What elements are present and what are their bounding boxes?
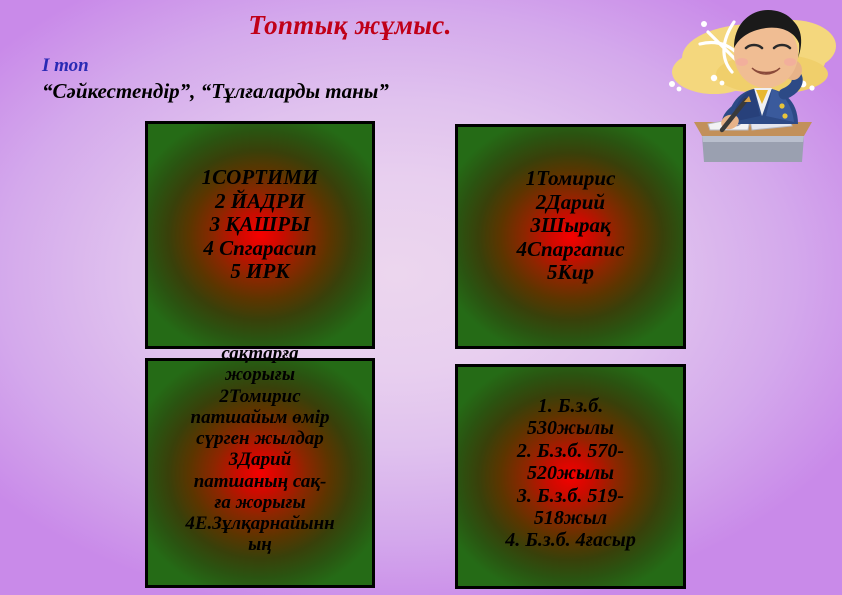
uniform-body-shape [728,88,798,124]
open-book-shape [708,115,792,131]
answer-box-events-text: сақтарға жорығы 2Томирис патшайым өмір с… [151,343,369,556]
group-label: I топ [42,55,89,77]
page-title: Топтық жұмыс. [0,10,700,41]
answer-box-dates-text: 1. Б.з.б. 530жылы 2. Б.з.б. 570- 520жылы… [461,395,680,552]
answer-box-events[interactable]: сақтарға жорығы 2Томирис патшайым өмір с… [145,358,375,588]
head-shape [734,10,801,88]
answer-box-names[interactable]: 1Томирис 2Дарий 3Шырақ 4Спаргапис 5Кир [455,124,686,349]
answer-box-terms-text: 1СОРТИМИ 2 ЙАДРИ 3 ҚАШРЫ 4 Спгарасип 5 И… [151,166,369,284]
arms-shape [719,60,802,132]
slide-canvas: Топтық жұмыс. I топ “Сәйкестендір”, “Тұл… [0,0,842,595]
pencil-shape [722,96,751,130]
desk-shape [694,122,812,162]
task-instruction: “Сәйкестендір”, “Тұлғаларды таны” [42,79,389,104]
answer-box-names-text: 1Томирис 2Дарий 3Шырақ 4Спаргапис 5Кир [461,167,680,285]
white-arc-decor [700,22,742,72]
answer-box-terms[interactable]: 1СОРТИМИ 2 ЙАДРИ 3 ҚАШРЫ 4 Спгарасип 5 И… [145,121,375,349]
answer-box-dates[interactable]: 1. Б.з.б. 530жылы 2. Б.з.б. 570- 520жылы… [455,364,686,589]
slide-clip-region: Топтық жұмыс. I топ “Сәйкестендір”, “Тұл… [0,0,842,595]
